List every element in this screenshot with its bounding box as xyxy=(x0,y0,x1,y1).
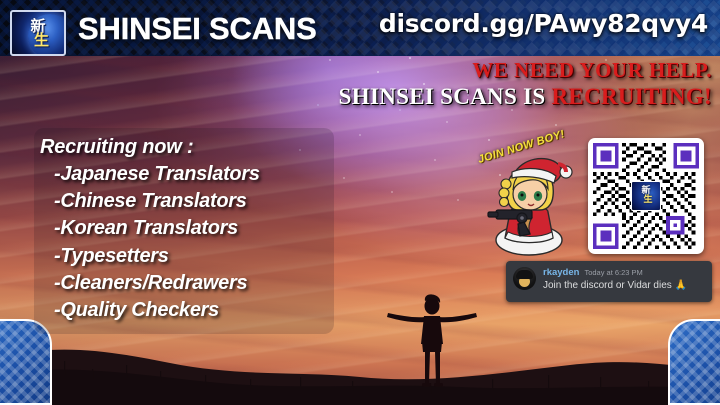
qr-center-logo-icon: 新 生 xyxy=(631,181,661,211)
discord-qr-code[interactable]: 新 生 xyxy=(588,138,704,254)
list-item: -Quality Checkers xyxy=(54,297,324,324)
discord-username[interactable]: rkayden xyxy=(543,267,579,278)
qr-logo-kanji: 新 生 xyxy=(639,187,652,204)
brand-title: SHINSEI SCANS xyxy=(78,11,317,47)
discord-timestamp: Today at 6:23 PM xyxy=(584,268,642,277)
avatar xyxy=(513,267,536,290)
discord-message-meta: rkayden Today at 6:23 PM xyxy=(543,267,687,278)
logo-kanji: 新 生 xyxy=(27,19,49,48)
recruiting-headline: WE NEED YOUR HELP. SHINSEI SCANS IS RECR… xyxy=(339,58,712,110)
recruiting-panel: Recruiting now : -Japanese Translators -… xyxy=(34,128,334,334)
headline-line-2-red: RECRUITING! xyxy=(552,84,712,109)
qr-logo-kanji-bottom: 生 xyxy=(643,196,652,205)
recruitment-banner: 新 生 SHINSEI SCANS discord.gg/PAwy82qvy4 … xyxy=(0,0,720,405)
logo-kanji-bottom: 生 xyxy=(34,33,49,47)
santa-mascot-illustration: JOIN NOW BOY! xyxy=(474,152,584,258)
discord-message-card: rkayden Today at 6:23 PM Join the discor… xyxy=(506,261,712,302)
headline-line-1: WE NEED YOUR HELP. xyxy=(339,58,712,83)
shinsei-logo-icon: 新 生 xyxy=(10,10,66,56)
recruiting-roles-list: -Japanese Translators -Chinese Translato… xyxy=(40,161,324,324)
header-bar: 新 生 SHINSEI SCANS discord.gg/PAwy82qvy4 xyxy=(0,0,720,56)
discord-invite-url[interactable]: discord.gg/PAwy82qvy4 xyxy=(379,9,708,38)
corner-decoration-right xyxy=(668,319,720,405)
headline-line-2: SHINSEI SCANS IS RECRUITING! xyxy=(339,84,712,110)
list-item: -Chinese Translators xyxy=(54,188,324,215)
list-item: -Typesetters xyxy=(54,243,324,270)
santa-girl-icon xyxy=(474,152,584,258)
discord-message-body: Join the discord or Vidar dies 🙏 xyxy=(543,280,687,291)
discord-message-content: rkayden Today at 6:23 PM Join the discor… xyxy=(543,267,687,291)
recruiting-title: Recruiting now : xyxy=(40,136,324,159)
list-item: -Korean Translators xyxy=(54,215,324,242)
girl-silhouette xyxy=(384,292,480,399)
list-item: -Cleaners/Redrawers xyxy=(54,270,324,297)
list-item: -Japanese Translators xyxy=(54,161,324,188)
headline-line-2-white: SHINSEI SCANS IS xyxy=(339,84,552,109)
